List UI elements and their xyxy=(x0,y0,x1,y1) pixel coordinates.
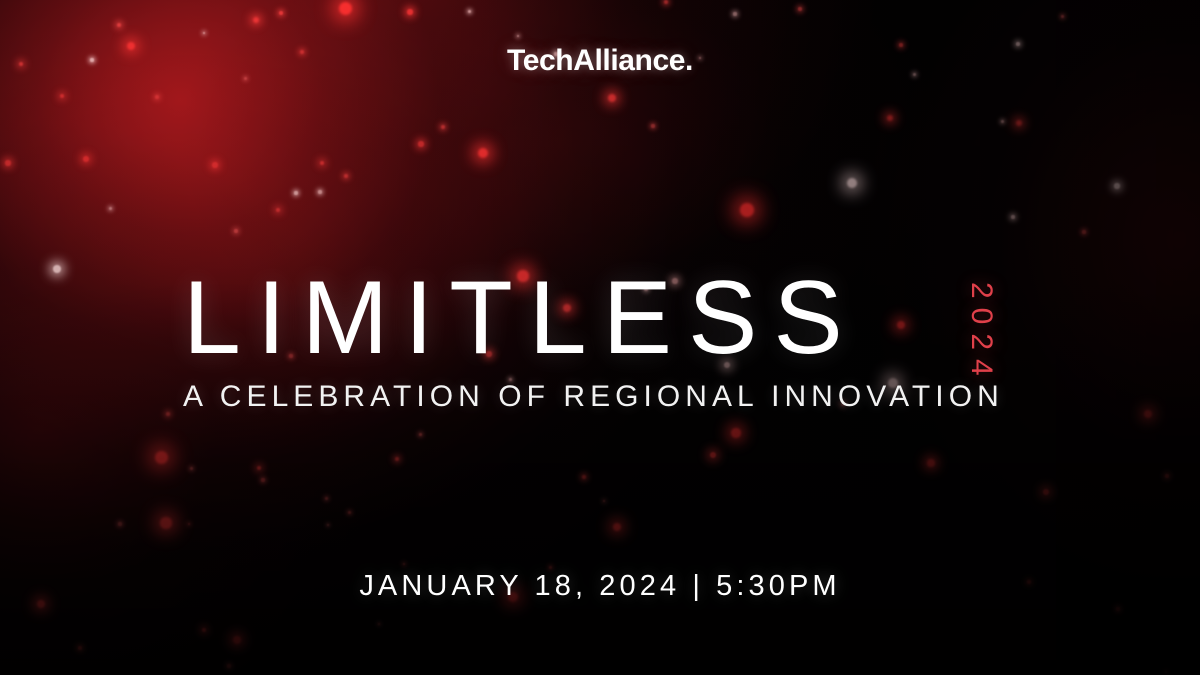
bokeh-particle xyxy=(78,646,82,650)
bokeh-particle xyxy=(339,2,352,15)
bokeh-particle xyxy=(740,203,754,217)
bokeh-particle xyxy=(188,523,191,526)
bokeh-particle xyxy=(320,161,325,166)
bokeh-particle xyxy=(1043,489,1049,495)
bokeh-particle xyxy=(294,191,297,194)
bokeh-particle xyxy=(212,162,217,167)
bokeh-particle xyxy=(418,141,423,146)
bokeh-particle xyxy=(407,9,412,14)
bokeh-particle xyxy=(1011,215,1015,219)
bokeh-particle xyxy=(1016,120,1022,126)
bokeh-particle xyxy=(651,124,654,127)
bokeh-particle xyxy=(608,94,616,102)
bokeh-particle xyxy=(257,466,262,471)
bokeh-particle xyxy=(1114,183,1119,188)
bokeh-particle xyxy=(327,524,330,527)
bokeh-particle xyxy=(203,32,206,35)
bokeh-particle xyxy=(155,451,168,464)
bokeh-particle xyxy=(733,12,736,15)
bokeh-particle xyxy=(202,628,207,633)
bokeh-particle xyxy=(1165,671,1168,674)
bokeh-particle xyxy=(276,208,281,213)
bokeh-particle xyxy=(53,265,61,273)
bokeh-particle xyxy=(403,563,406,566)
bokeh-particle xyxy=(253,17,259,23)
bokeh-particle xyxy=(1144,410,1152,418)
bokeh-particle xyxy=(549,566,552,569)
bokeh-particle xyxy=(419,433,422,436)
bokeh-particle xyxy=(378,623,381,626)
bokeh-particle xyxy=(233,636,241,644)
bokeh-particle xyxy=(1061,15,1064,18)
title-row: LIMITLESS xyxy=(183,262,1029,374)
bokeh-particle xyxy=(582,475,586,479)
bokeh-particle xyxy=(664,0,668,4)
event-datetime-wrap: JANUARY 18, 2024 | 5:30PM xyxy=(0,570,1200,602)
bokeh-particle xyxy=(227,664,230,667)
bokeh-particle xyxy=(710,452,717,459)
bokeh-particle xyxy=(190,467,193,470)
bokeh-particle xyxy=(478,148,488,158)
bokeh-particle xyxy=(847,178,858,189)
bokeh-particle xyxy=(279,11,283,15)
bokeh-particle xyxy=(798,7,802,11)
event-subtitle: A CELEBRATION OF REGIONAL INNOVATION xyxy=(183,380,1029,414)
bokeh-particle xyxy=(348,511,351,514)
bokeh-particle xyxy=(731,428,740,437)
bokeh-particle xyxy=(155,95,159,99)
event-title: LIMITLESS xyxy=(183,262,1029,374)
bokeh-particle xyxy=(468,10,471,13)
bokeh-particle xyxy=(517,35,520,38)
bokeh-particle xyxy=(603,500,606,503)
bokeh-particle xyxy=(1116,607,1119,610)
bokeh-particle xyxy=(160,517,171,528)
bokeh-particle xyxy=(118,522,121,525)
bokeh-particle xyxy=(318,190,321,193)
bokeh-particle xyxy=(261,478,264,481)
bokeh-particle xyxy=(927,459,934,466)
bokeh-particle xyxy=(344,174,348,178)
event-year-vertical: 2024 xyxy=(966,282,996,422)
bokeh-particle xyxy=(325,497,328,500)
bokeh-particle xyxy=(1001,120,1004,123)
bokeh-particle xyxy=(83,156,89,162)
brand-logo-wrap: TechAlliance. xyxy=(0,46,1200,76)
bokeh-particle xyxy=(1082,230,1085,233)
bokeh-particle xyxy=(166,412,170,416)
bokeh-particle xyxy=(109,207,112,210)
bokeh-particle xyxy=(395,457,399,461)
bokeh-particle xyxy=(1165,474,1168,477)
bokeh-particle xyxy=(117,23,121,27)
bokeh-particle xyxy=(244,77,247,80)
brand-logo: TechAlliance. xyxy=(507,46,693,76)
bokeh-particle xyxy=(234,229,237,232)
headline-block: LIMITLESS A CELEBRATION OF REGIONAL INNO… xyxy=(183,262,1029,414)
bokeh-particle xyxy=(887,115,894,122)
bokeh-particle xyxy=(5,160,10,165)
bokeh-particle xyxy=(441,125,445,129)
event-datetime: JANUARY 18, 2024 | 5:30PM xyxy=(359,570,840,602)
event-promo-poster: TechAlliance. LIMITLESS A CELEBRATION OF… xyxy=(0,0,1200,675)
bokeh-particle xyxy=(613,523,622,532)
bokeh-particle xyxy=(60,94,65,99)
